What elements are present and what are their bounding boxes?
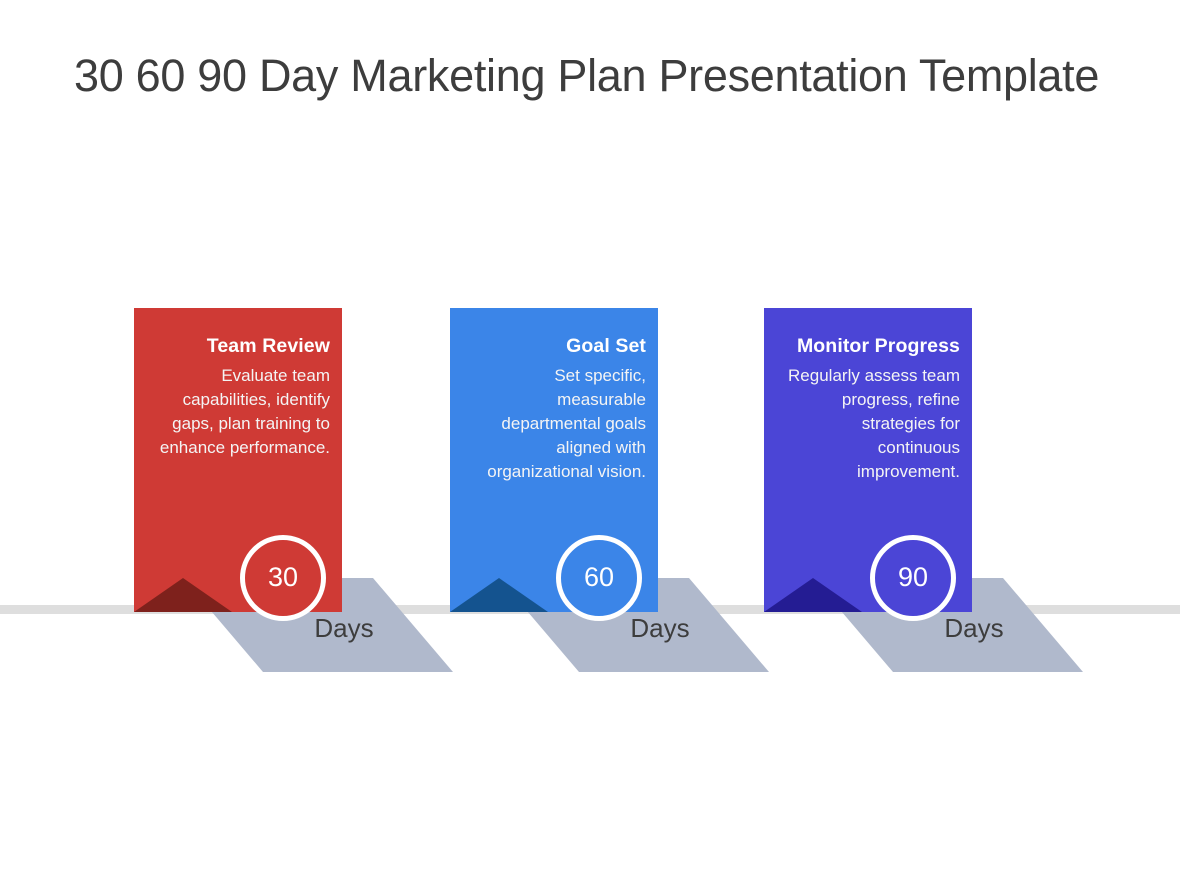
day-badge-90[interactable]: 90 xyxy=(870,535,956,621)
card-body-60: Set specific, measurable departmental go… xyxy=(462,364,646,483)
days-label-60: Days xyxy=(600,612,720,645)
day-badge-number-90: 90 xyxy=(898,564,928,591)
card-body-30: Evaluate team capabilities, identify gap… xyxy=(146,364,330,459)
card-fold-triangle-60 xyxy=(450,578,550,612)
card-title-30: Team Review xyxy=(146,334,330,358)
milestone-group: Team Review Evaluate team capabilities, … xyxy=(0,0,1180,885)
slide-canvas: 30 60 90 Day Marketing Plan Presentation… xyxy=(0,0,1180,885)
card-title-60: Goal Set xyxy=(462,334,646,358)
milestone-90[interactable]: Monitor Progress Regularly assess team p… xyxy=(764,0,1124,885)
days-label-90: Days xyxy=(914,612,1034,645)
card-fold-triangle-30 xyxy=(134,578,234,612)
day-badge-number-30: 30 xyxy=(268,564,298,591)
milestone-60[interactable]: Goal Set Set specific, measurable depart… xyxy=(450,0,810,885)
day-badge-30[interactable]: 30 xyxy=(240,535,326,621)
day-badge-60[interactable]: 60 xyxy=(556,535,642,621)
milestone-30[interactable]: Team Review Evaluate team capabilities, … xyxy=(134,0,494,885)
card-body-90: Regularly assess team progress, refine s… xyxy=(776,364,960,483)
card-fold-triangle-90 xyxy=(764,578,864,612)
card-title-90: Monitor Progress xyxy=(776,334,960,358)
days-label-30: Days xyxy=(284,612,404,645)
day-badge-number-60: 60 xyxy=(584,564,614,591)
